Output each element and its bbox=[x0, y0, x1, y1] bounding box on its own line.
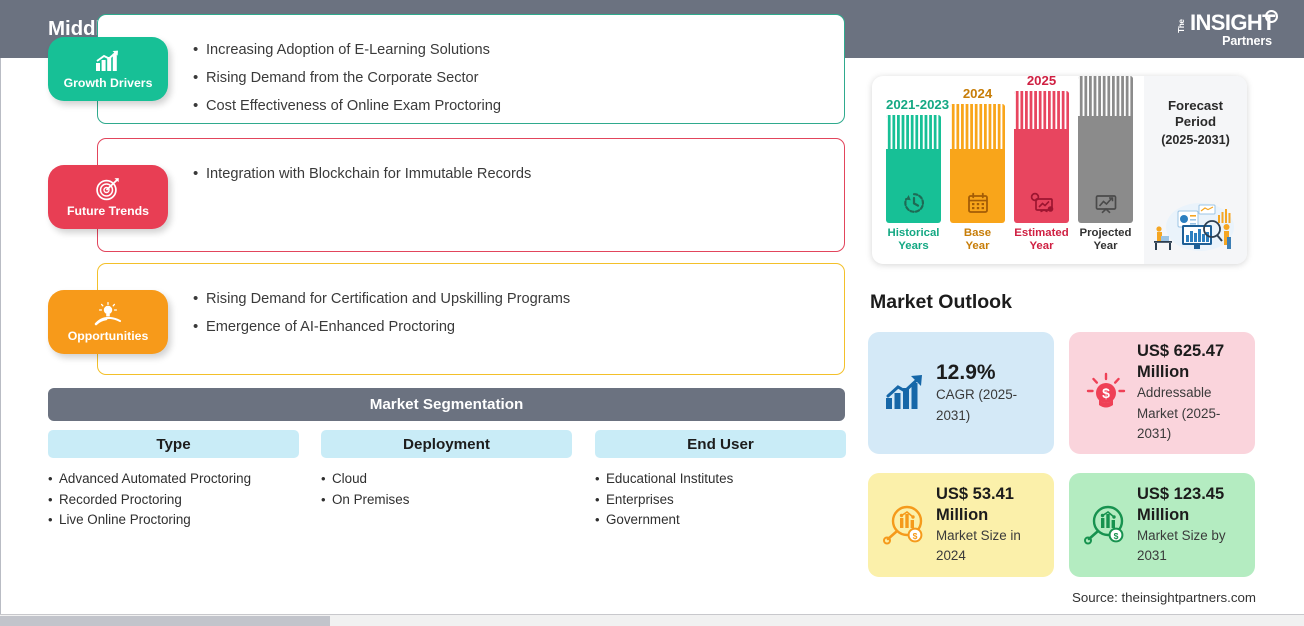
outlook-card-text: 12.9% CAGR (2025-2031) bbox=[936, 360, 1042, 426]
timeline-bar bbox=[950, 104, 1005, 223]
segment-items: Cloud On Premises bbox=[321, 469, 572, 510]
forecast-range: (2025-2031) bbox=[1161, 133, 1230, 147]
magnifier-chart-dollar-icon: $ bbox=[882, 504, 928, 546]
scrollbar-thumb[interactable] bbox=[0, 616, 330, 626]
list-item: Recorded Proctoring bbox=[48, 490, 299, 511]
list-item: On Premises bbox=[321, 490, 572, 511]
timeline-bars: 2021-2023 HistoricalYears 2 bbox=[872, 76, 1144, 264]
forecast-title: ForecastPeriod bbox=[1168, 98, 1223, 130]
outlook-card-text: US$ 123.45 Million Market Size by 2031 bbox=[1137, 484, 1243, 567]
segment-items: Advanced Automated Proctoring Recorded P… bbox=[48, 469, 299, 531]
timeline-name: EstimatedYear bbox=[1014, 227, 1069, 254]
segment-title: End User bbox=[595, 430, 846, 458]
opportunities-label: Opportunities bbox=[68, 329, 149, 343]
outlook-card-label: CAGR (2025-2031) bbox=[936, 385, 1042, 426]
timeline-bar-historical: 2021-2023 HistoricalYears bbox=[886, 97, 941, 254]
list-item: Increasing Adoption of E-Learning Soluti… bbox=[193, 36, 813, 64]
growth-drivers-badge[interactable]: Growth Drivers bbox=[48, 37, 168, 101]
infographic-page: Middle East & Africa Online Exam Proctor… bbox=[0, 0, 1304, 626]
list-item: Rising Demand for Certification and Upsk… bbox=[193, 285, 813, 313]
logo-partners-text: Partners bbox=[1222, 35, 1272, 48]
outlook-card-label: Addressable Market (2025-2031) bbox=[1137, 383, 1243, 445]
timeline-bar-stripe bbox=[1078, 76, 1133, 116]
logo-top-row: The INSIGHT bbox=[1176, 10, 1278, 34]
bar-chart-arrow-icon bbox=[882, 374, 928, 412]
hand-lightbulb-icon bbox=[93, 302, 123, 327]
timeline-bar bbox=[1078, 76, 1133, 223]
outlook-card-value: 12.9% bbox=[936, 360, 1042, 385]
timeline-name: ProjectedYear bbox=[1078, 227, 1133, 254]
bar-chart-growth-icon bbox=[95, 49, 121, 74]
gear-chart-icon bbox=[1014, 191, 1069, 215]
future-trends-badge[interactable]: Future Trends bbox=[48, 165, 168, 229]
outlook-card-text: US$ 53.41 Million Market Size in 2024 bbox=[936, 484, 1042, 567]
timeline-name: HistoricalYears bbox=[886, 227, 941, 254]
insight-partners-logo: The INSIGHT Partners bbox=[1148, 9, 1278, 49]
outlook-card-addressable: $ US$ 625.47 Million Addressable Market … bbox=[1069, 332, 1255, 454]
list-item: Enterprises bbox=[595, 490, 846, 511]
market-outlook-title: Market Outlook bbox=[870, 291, 1012, 314]
outlook-card-value: US$ 123.45 Million bbox=[1137, 484, 1243, 526]
outlook-card-text: US$ 625.47 Million Addressable Market (2… bbox=[1137, 341, 1243, 445]
market-segmentation-header: Market Segmentation bbox=[48, 388, 845, 421]
timeline-bar bbox=[1014, 91, 1069, 223]
monitor-chart-icon bbox=[1078, 191, 1133, 215]
logo-insight-text: INSIGHT bbox=[1190, 12, 1275, 34]
future-trends-bullets: Integration with Blockchain for Immutabl… bbox=[193, 138, 813, 252]
list-item: Rising Demand from the Corporate Sector bbox=[193, 64, 813, 92]
outlook-card-label: Market Size by 2031 bbox=[1137, 526, 1243, 567]
timeline-bar-projected: 2031 ProjectedYear bbox=[1078, 76, 1133, 254]
outlook-card-value: US$ 625.47 Million bbox=[1137, 341, 1243, 383]
list-item: Government bbox=[595, 510, 846, 531]
list-item: Cost Effectiveness of Online Exam Procto… bbox=[193, 92, 813, 120]
outlook-card-size-2024: $ US$ 53.41 Million Market Size in 2024 bbox=[868, 473, 1054, 577]
list-item: Educational Institutes bbox=[595, 469, 846, 490]
calendar-icon bbox=[950, 191, 1005, 215]
segment-title: Type bbox=[48, 430, 299, 458]
timeline-card: 2021-2023 HistoricalYears 2 bbox=[872, 76, 1247, 264]
timeline-bar-base: 2024 bbox=[950, 86, 1005, 254]
growth-drivers-bullets: Increasing Adoption of E-Learning Soluti… bbox=[193, 14, 813, 124]
opportunities-bullets: Rising Demand for Certification and Upsk… bbox=[193, 263, 813, 375]
svg-text:$: $ bbox=[1114, 531, 1119, 541]
opportunities-badge[interactable]: Opportunities bbox=[48, 290, 168, 354]
outlook-card-cagr: 12.9% CAGR (2025-2031) bbox=[868, 332, 1054, 454]
growth-drivers-label: Growth Drivers bbox=[64, 76, 153, 90]
timeline-bar-stripe bbox=[886, 115, 941, 149]
outlook-card-value: US$ 53.41 Million bbox=[936, 484, 1042, 526]
list-item: Emergence of AI-Enhanced Proctoring bbox=[193, 313, 813, 341]
svg-text:$: $ bbox=[913, 531, 918, 541]
list-item: Cloud bbox=[321, 469, 572, 490]
timeline-bar-stripe bbox=[1014, 91, 1069, 129]
segment-title: Deployment bbox=[321, 430, 572, 458]
block-opportunities: Opportunities Rising Demand for Certific… bbox=[0, 263, 860, 375]
list-item: Live Online Proctoring bbox=[48, 510, 299, 531]
svg-text:$: $ bbox=[1102, 385, 1110, 401]
timeline-name: BaseYear bbox=[950, 227, 1005, 254]
timeline-bar-stripe bbox=[950, 104, 1005, 149]
segmentation-column-deployment: Deployment Cloud On Premises bbox=[321, 430, 572, 510]
target-dart-icon bbox=[95, 177, 121, 202]
logo-the-text: The bbox=[1178, 17, 1188, 35]
source-text: Source: theinsightpartners.com bbox=[1072, 590, 1256, 605]
timeline-year-label: 2025 bbox=[1014, 76, 1069, 88]
segmentation-column-type: Type Advanced Automated Proctoring Recor… bbox=[48, 430, 299, 531]
magnifier-chart-dollar-icon: $ bbox=[1083, 504, 1129, 546]
lightbulb-dollar-icon: $ bbox=[1083, 372, 1129, 414]
segmentation-column-end-user: End User Educational Institutes Enterpri… bbox=[595, 430, 846, 531]
list-item: Integration with Blockchain for Immutabl… bbox=[193, 160, 813, 188]
horizontal-scrollbar[interactable] bbox=[0, 614, 1304, 626]
outlook-card-size-2031: $ US$ 123.45 Million Market Size by 2031 bbox=[1069, 473, 1255, 577]
analytics-dashboard-illustration bbox=[1148, 197, 1243, 258]
list-item: Advanced Automated Proctoring bbox=[48, 469, 299, 490]
logo-circle-icon bbox=[1265, 10, 1278, 23]
segment-items: Educational Institutes Enterprises Gover… bbox=[595, 469, 846, 531]
future-trends-label: Future Trends bbox=[67, 204, 149, 218]
timeline-bar bbox=[886, 115, 941, 223]
timeline-bar-estimated: 2025 EstimatedYear bbox=[1014, 76, 1069, 254]
block-future-trends: Future Trends Integration with Blockchai… bbox=[0, 138, 860, 252]
timeline-year-label: 2021-2023 bbox=[886, 97, 941, 112]
clock-history-icon bbox=[886, 191, 941, 215]
block-growth-drivers: Growth Drivers Increasing Adoption of E-… bbox=[0, 14, 860, 124]
timeline-year-label: 2024 bbox=[950, 86, 1005, 101]
outlook-card-label: Market Size in 2024 bbox=[936, 526, 1042, 567]
forecast-period-panel: ForecastPeriod (2025-2031) bbox=[1144, 76, 1247, 264]
